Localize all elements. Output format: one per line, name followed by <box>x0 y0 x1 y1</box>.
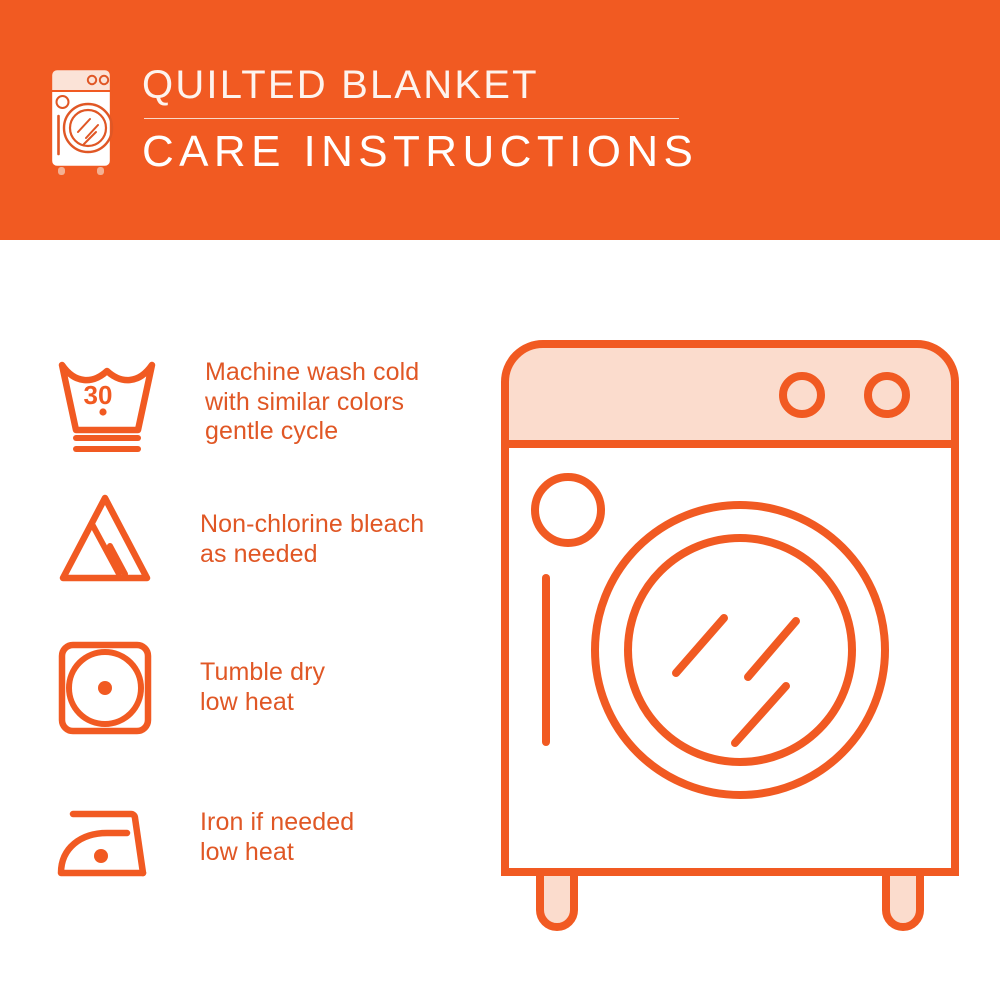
care-text-line: Machine wash cold <box>205 358 419 388</box>
front-load-washing-machine-illustration <box>490 330 970 950</box>
door-glass-streak <box>748 621 796 677</box>
care-text-line: gentle cycle <box>205 417 419 447</box>
care-instruction-item: Tumble dry low heat <box>55 638 475 738</box>
care-instruction-text: Tumble dry low heat <box>200 638 325 717</box>
heat-level-dot <box>94 849 108 863</box>
page-title-secondary: CARE INSTRUCTIONS <box>142 127 698 177</box>
care-instruction-text: Iron if needed low heat <box>200 788 354 867</box>
care-text-line: Tumble dry <box>200 658 325 688</box>
control-panel <box>505 344 955 444</box>
tumble-dry-low-heat-icon <box>55 638 155 738</box>
header-content: QUILTED BLANKET CARE INSTRUCTIONS <box>42 62 698 178</box>
iron-low-heat-icon <box>55 788 155 888</box>
care-instruction-item: Non-chlorine bleach as needed <box>55 490 475 590</box>
heat-level-dot <box>98 681 112 695</box>
non-chlorine-bleach-triangle-icon <box>55 490 155 590</box>
detergent-port-circle[interactable] <box>535 477 601 543</box>
care-instruction-text: Machine wash cold with similar colors ge… <box>205 352 419 447</box>
care-text-line: Iron if needed <box>200 808 354 838</box>
care-text-line: with similar colors <box>205 388 419 418</box>
wash-temperature-label: 30 <box>84 380 113 410</box>
page-title-primary: QUILTED BLANKET <box>142 62 698 108</box>
wash-tub-30-gentle-icon: 30 <box>55 352 160 457</box>
care-instruction-list: 30 Machine wash cold with similar colors… <box>0 240 470 1000</box>
header-title-group: QUILTED BLANKET CARE INSTRUCTIONS <box>142 62 698 177</box>
door-glass-streak <box>735 686 786 743</box>
care-instruction-text: Non-chlorine bleach as needed <box>200 490 424 569</box>
washing-machine-icon <box>42 66 120 178</box>
care-text-line: low heat <box>200 688 325 718</box>
machine-leg-right <box>886 872 920 927</box>
care-text-line: as needed <box>200 540 424 570</box>
machine-leg-left <box>540 872 574 927</box>
care-text-line: low heat <box>200 838 354 868</box>
care-text-line: Non-chlorine bleach <box>200 510 424 540</box>
door-glass-streak <box>676 618 724 673</box>
title-divider <box>144 118 679 119</box>
care-instruction-item: 30 Machine wash cold with similar colors… <box>55 352 475 457</box>
door-inner-ring[interactable] <box>628 538 852 762</box>
care-instruction-item: Iron if needed low heat <box>55 788 475 888</box>
page-header: QUILTED BLANKET CARE INSTRUCTIONS <box>0 0 1000 240</box>
door-outer-ring[interactable] <box>595 505 885 795</box>
care-instructions-page: QUILTED BLANKET CARE INSTRUCTIONS 30 Mac… <box>0 0 1000 1000</box>
